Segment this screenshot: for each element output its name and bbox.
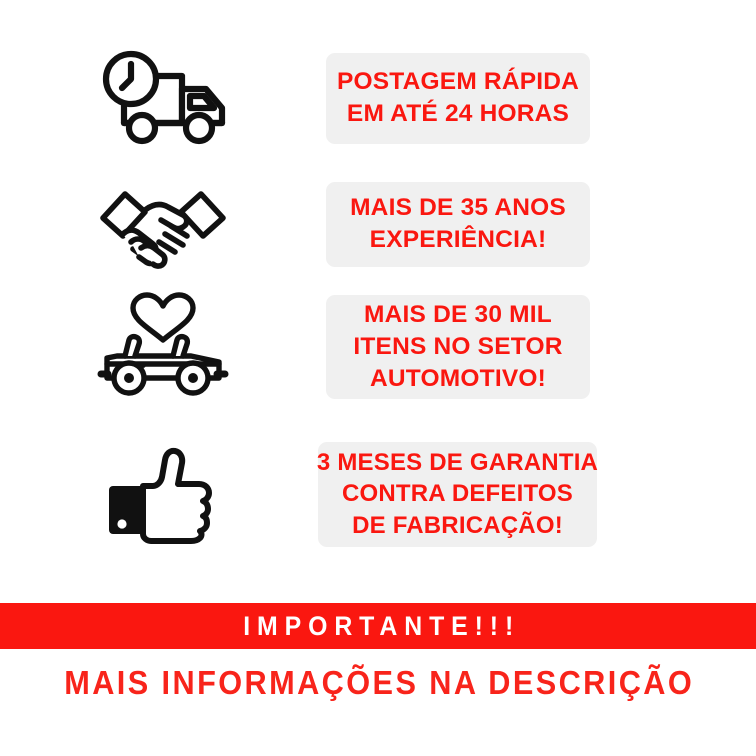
important-banner: IMPORTANTE!!! <box>0 603 756 649</box>
feature-text-catalog: MAIS DE 30 MIL ITENS NO SETOR AUTOMOTIVO… <box>326 295 590 399</box>
feature-row-warranty: 3 MESES DE GARANTIA CONTRA DEFEITOS DE F… <box>0 432 756 556</box>
important-banner-text: IMPORTANTE!!! <box>236 611 520 642</box>
feature-text-warranty: 3 MESES DE GARANTIA CONTRA DEFEITOS DE F… <box>318 442 597 547</box>
feature-line: 3 MESES DE GARANTIA <box>317 447 598 478</box>
delivery-truck-clock-icon <box>0 46 326 150</box>
feature-line: DE FABRICAÇÃO! <box>352 510 563 541</box>
feature-line: CONTRA DEFEITOS <box>342 478 573 509</box>
feature-line: MAIS DE 30 MIL <box>364 299 552 331</box>
footer-note-text: MAIS INFORMAÇÕES NA DESCRIÇÃO <box>62 664 694 702</box>
car-heart-icon <box>0 292 326 402</box>
feature-row-catalog: MAIS DE 30 MIL ITENS NO SETOR AUTOMOTIVO… <box>0 288 756 406</box>
feature-line: MAIS DE 35 ANOS <box>350 192 566 224</box>
feature-line: EM ATÉ 24 HORAS <box>347 98 569 130</box>
feature-text-experience: MAIS DE 35 ANOS EXPERIÊNCIA! <box>326 182 590 267</box>
feature-row-shipping: POSTAGEM RÁPIDA EM ATÉ 24 HORAS <box>0 38 756 158</box>
handshake-icon <box>0 176 326 272</box>
thumbs-up-icon <box>0 444 326 544</box>
feature-line: AUTOMOTIVO! <box>370 363 546 395</box>
feature-line: ITENS NO SETOR <box>353 331 562 363</box>
feature-line: POSTAGEM RÁPIDA <box>337 66 579 98</box>
feature-text-shipping: POSTAGEM RÁPIDA EM ATÉ 24 HORAS <box>326 53 590 144</box>
feature-line: EXPERIÊNCIA! <box>370 224 547 256</box>
footer-note: MAIS INFORMAÇÕES NA DESCRIÇÃO <box>0 656 756 710</box>
feature-row-experience: MAIS DE 35 ANOS EXPERIÊNCIA! <box>0 165 756 283</box>
